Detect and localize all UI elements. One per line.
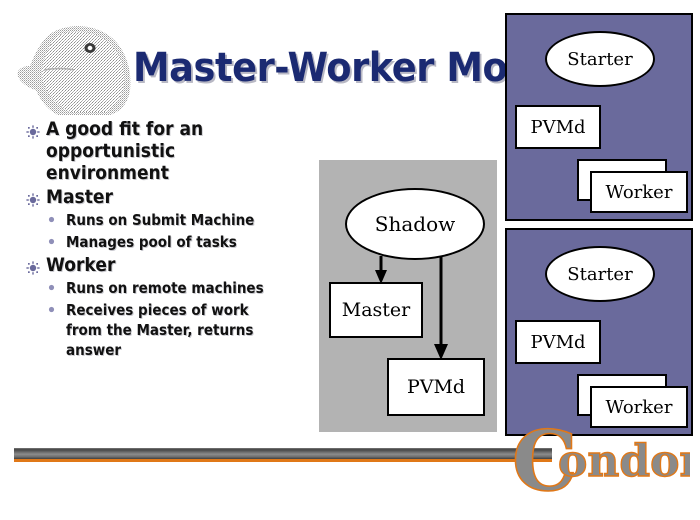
list-item: Runs on remote machines	[26, 278, 316, 298]
burst-bullet-icon	[26, 193, 46, 207]
node-worker: Worker	[590, 171, 688, 213]
node-worker: Worker	[590, 386, 688, 428]
dot-bullet-icon	[48, 216, 66, 223]
list-item: A good fit for anopportunistic environme…	[26, 118, 316, 184]
condor-head-icon	[14, 18, 136, 116]
footer-divider	[14, 448, 552, 462]
node-starter: Starter	[545, 246, 655, 302]
list-item: Manages pool of tasks	[26, 232, 316, 252]
bullet-list: A good fit for anopportunistic environme…	[26, 118, 316, 362]
list-item-label: Master	[46, 186, 113, 208]
execute-machine-panel-top: Starter PVMd Worker	[505, 13, 693, 221]
svg-text:ondor: ondor	[558, 436, 690, 487]
list-item-label: Receives pieces of workfrom the Master, …	[66, 300, 253, 360]
list-item: Runs on Submit Machine	[26, 210, 316, 230]
list-item-label: Runs on Submit Machine	[66, 210, 254, 230]
condor-wordmark: C ondor	[510, 424, 690, 510]
dot-bullet-icon	[48, 238, 66, 245]
list-item-label: Manages pool of tasks	[66, 232, 237, 252]
node-pvmd-submit: PVMd	[387, 358, 485, 416]
node-pvmd-execute: PVMd	[515, 320, 601, 364]
node-pvmd-execute: PVMd	[515, 105, 601, 149]
list-item: Receives pieces of workfrom the Master, …	[26, 300, 316, 360]
dot-bullet-icon	[48, 284, 66, 291]
list-item: Master	[26, 186, 316, 208]
slide-canvas: Master-Worker Model	[0, 0, 700, 520]
footer-divider-gray	[14, 448, 552, 459]
footer-divider-accent	[14, 459, 552, 462]
burst-bullet-icon	[26, 261, 46, 275]
execute-machine-panel-bottom: Starter PVMd Worker	[505, 228, 693, 436]
list-item-label: A good fit for anopportunistic environme…	[46, 118, 289, 184]
node-master: Master	[329, 282, 423, 338]
list-item-label: Runs on remote machines	[66, 278, 264, 298]
list-item: Worker	[26, 254, 316, 276]
burst-bullet-icon	[26, 125, 46, 139]
dot-bullet-icon	[48, 306, 66, 313]
node-starter: Starter	[545, 31, 655, 87]
node-shadow: Shadow	[345, 188, 485, 260]
list-item-label: Worker	[46, 254, 115, 276]
submit-machine-panel: Shadow Master PVMd	[319, 160, 497, 432]
